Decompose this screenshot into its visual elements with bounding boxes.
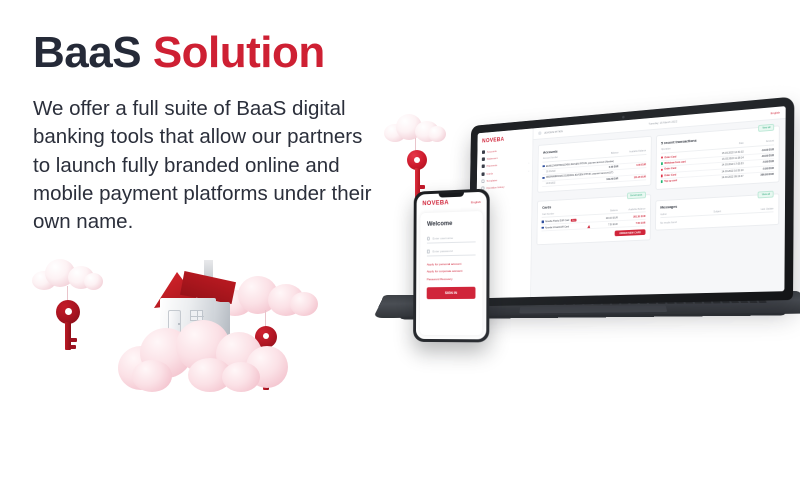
get-all-cards-badge[interactable]: Get all cards	[627, 192, 646, 200]
sidebar-item-cards[interactable]: Cards ›	[482, 169, 530, 176]
phone-screen: NOVEBA English Welcome Enter username En…	[416, 192, 487, 340]
account-icon	[543, 177, 545, 179]
transaction-date: 15.03.2022 11:28:14	[714, 156, 744, 161]
sidebar-item-label: Payments	[487, 164, 498, 168]
username-placeholder: Enter username	[432, 236, 453, 241]
card-name: Noveba Virtual EUR Card	[545, 225, 569, 229]
welcome-heading: Welcome	[427, 220, 476, 228]
column-header: Available Balance	[618, 207, 646, 211]
avatar	[539, 131, 542, 135]
status-icon	[661, 169, 663, 171]
card-icon	[542, 227, 544, 229]
column-header: Balance	[591, 151, 618, 156]
sidebar-item-templates[interactable]: Templates	[481, 176, 529, 183]
transaction-amount: -5.00 EUR	[744, 167, 774, 172]
messages-card: View all Messages Author Subject Last Up…	[655, 193, 780, 230]
laptop-screen: NOVEBA Accounts Statement	[475, 106, 786, 298]
sidebar-item-label: Templates	[486, 178, 497, 182]
body-copy: We offer a full suite of BaaS digital ba…	[33, 95, 373, 236]
column-header: Balance	[591, 209, 618, 213]
status-icon	[661, 175, 663, 177]
account-balance: 0.00 EUR	[591, 165, 618, 170]
cards-card: Get all cards Cards Card Number Balance …	[537, 194, 651, 245]
account-balance: 101.20 EUR	[591, 177, 618, 182]
key-icon	[56, 286, 84, 350]
topbar-user: JEVGENI PITKIN	[544, 129, 563, 134]
sidebar-item-payments[interactable]: Payments ›	[482, 161, 530, 168]
column-header: Available Balance	[619, 149, 647, 154]
card-balance: 294.30 EUR	[591, 217, 618, 221]
payments-icon	[482, 165, 485, 169]
topbar-date: Tuesday, 15 March 2022	[648, 119, 677, 125]
column-header: Subject	[713, 209, 743, 213]
house-on-cloud	[118, 252, 318, 392]
noveba-logo: NOVEBA	[422, 200, 448, 207]
transaction-date: 14.03.2022 09:13:47	[714, 175, 744, 180]
accounts-icon	[482, 150, 485, 154]
transaction-date: 14.03.2022 17:05:33	[714, 163, 744, 168]
webcam-icon	[622, 116, 625, 119]
sidebar-item-label: Accounts	[487, 149, 497, 153]
transaction-amount: -5.00 EUR	[744, 161, 774, 166]
sidebar-item-label: Statement	[487, 156, 498, 160]
password-field[interactable]: Enter password	[427, 248, 476, 256]
password-recovery-link[interactable]: Password Recovery	[427, 276, 476, 281]
dashboard-grid: Accounts Account Number Balance Availabl…	[531, 119, 785, 297]
cloud-key-left	[32, 258, 104, 350]
column-header: Last Update	[743, 207, 773, 212]
apply-personal-link[interactable]: Apply for personal account	[427, 262, 476, 267]
app-main: JEVGENI PITKIN Tuesday, 15 March 2022 En…	[531, 106, 785, 297]
status-icon	[661, 163, 663, 165]
view-all-messages-badge[interactable]: View all	[758, 191, 774, 199]
transaction-name: Order Card	[664, 167, 676, 171]
login-card: Welcome Enter username Enter password Ap…	[420, 211, 483, 335]
chevron-right-icon: ›	[528, 169, 529, 173]
sidebar-item-label: Cards	[487, 171, 493, 175]
transaction-amount: -10.00 EUR	[744, 154, 774, 159]
column-header: Author	[660, 210, 713, 216]
accounts-card: Accounts Account Number Balance Availabl…	[538, 136, 652, 193]
language-selector[interactable]: English	[771, 111, 780, 116]
transactions-card: View all 5 recent transactions Operation…	[655, 125, 780, 190]
transaction-name: Top up card	[664, 179, 677, 183]
column-header: Account Number	[543, 154, 592, 160]
card-name: Noveba Plastic EUR Card	[545, 219, 569, 223]
laptop-trackpad	[519, 305, 667, 314]
cards-icon	[482, 172, 485, 176]
lock-icon	[427, 250, 430, 253]
status-icon	[661, 181, 663, 183]
account-available: 101.20 EUR	[618, 175, 646, 180]
username-field[interactable]: Enter username	[427, 235, 476, 243]
laptop-lid: NOVEBA Accounts Statement	[468, 96, 794, 306]
sign-in-button[interactable]: SIGN IN	[427, 287, 476, 299]
transaction-amount: 300.00 EUR	[743, 173, 773, 178]
password-placeholder: Enter password	[432, 249, 452, 253]
card-available: 281.30 EUR	[618, 215, 646, 219]
page-title-part2: Solution	[153, 28, 325, 77]
account-number: 14.03.2022	[543, 179, 592, 185]
view-all-transactions-badge[interactable]: View all	[759, 123, 775, 131]
user-icon	[427, 237, 430, 240]
sidebar-item-statement[interactable]: Statement	[482, 154, 530, 161]
cloud-icon	[118, 312, 288, 392]
device-mockups: NOVEBA Accounts Statement	[385, 95, 800, 375]
transaction-date: 14.03.2022 16:52:10	[714, 169, 744, 174]
transaction-name: Order Card	[664, 155, 676, 159]
dashboard-right-column: View all 5 recent transactions Operation…	[654, 125, 780, 288]
sidebar-item-label: Operation history	[486, 185, 504, 190]
card-icon	[542, 221, 544, 223]
apply-corporate-link[interactable]: Apply for corporate account	[427, 269, 476, 274]
dashboard-left-column: Accounts Account Number Balance Availabl…	[536, 136, 651, 292]
card-balance: 7.50 EUR	[591, 223, 618, 227]
cards-card-actions: ORDER NEW CARD	[542, 229, 646, 240]
phone-mockup: NOVEBA English Welcome Enter username En…	[413, 189, 490, 343]
status-badge: New	[571, 219, 577, 222]
templates-icon	[481, 179, 484, 183]
page-title: BaaS Solution	[33, 28, 325, 78]
column-header: Operation	[661, 144, 714, 151]
order-new-card-button[interactable]: ORDER NEW CARD	[615, 229, 645, 237]
transaction-name: Order Card	[664, 173, 676, 177]
account-available: 0.00 EUR	[618, 163, 646, 168]
column-header: Card Number	[542, 210, 591, 215]
transaction-name: Withdraw from card	[664, 161, 686, 165]
statement-icon	[482, 157, 485, 161]
page-title-part1: BaaS	[33, 28, 141, 77]
slide-canvas: BaaS Solution We offer a full suite of B…	[0, 0, 800, 500]
account-icon	[543, 165, 545, 167]
column-header: Amount	[744, 139, 774, 144]
sidebar-item-accounts[interactable]: Accounts	[482, 147, 530, 154]
noveba-logo: NOVEBA	[482, 134, 530, 144]
chevron-right-icon: ›	[529, 161, 530, 165]
sidebar-item-operation-history[interactable]: Operation history	[481, 183, 529, 190]
card-available: 7.50 EUR	[618, 221, 646, 225]
language-selector[interactable]: English	[471, 200, 481, 204]
column-header: Date	[714, 142, 744, 147]
status-icon	[661, 156, 663, 158]
banking-app: NOVEBA Accounts Statement	[475, 106, 786, 298]
